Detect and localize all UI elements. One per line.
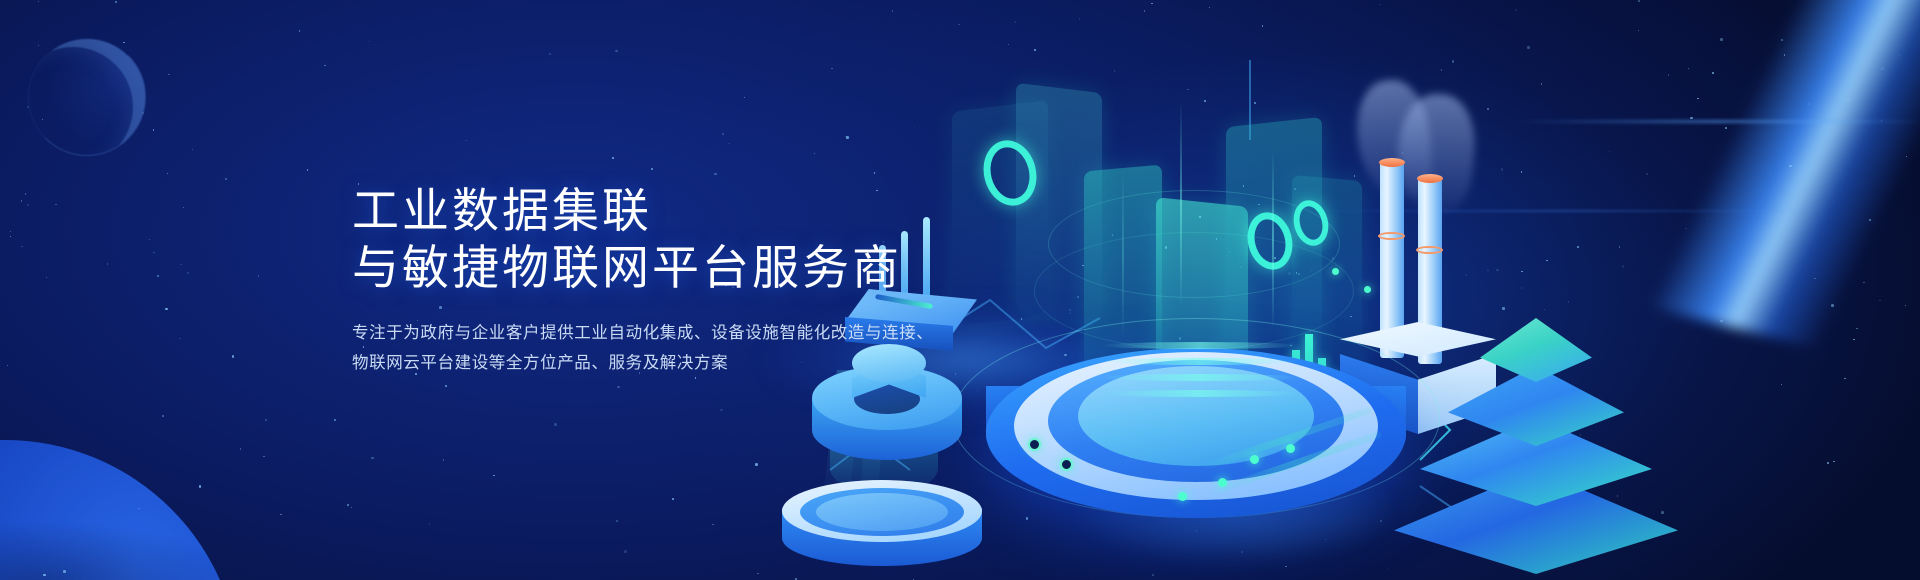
- scanline: [1122, 170, 1124, 340]
- planet-icon: [0, 440, 240, 580]
- data-platform-disc: [986, 330, 1406, 530]
- hero-subtitle-line1: 专注于为政府与企业客户提供工业自动化集成、设备设施智能化改造与连接、: [352, 318, 992, 348]
- hero-subtitle-line2: 物联网云平台建设等全方位产品、服务及解决方案: [352, 348, 992, 378]
- data-node: [1028, 438, 1041, 451]
- data-pulse: [1250, 455, 1259, 464]
- chimney-band: [1416, 246, 1443, 254]
- hero-subtitle: 专注于为政府与企业客户提供工业自动化集成、设备设施智能化改造与连接、 物联网云平…: [352, 318, 992, 378]
- data-node: [1060, 458, 1073, 471]
- chimney-cap: [1379, 158, 1405, 167]
- chimney-cap: [1417, 174, 1443, 183]
- page-title-line2: 与敏捷物联网平台服务商: [352, 239, 1032, 296]
- pyramid-layer: [1480, 318, 1592, 382]
- hero-illustration: [950, 0, 1920, 580]
- chimney-band: [1378, 232, 1405, 240]
- scanline: [1180, 100, 1182, 310]
- small-disc-core: [816, 493, 948, 531]
- hero-banner: 工业数据集联 与敏捷物联网平台服务商 专注于为政府与企业客户提供工业自动化集成、…: [0, 0, 1920, 580]
- layered-pyramid-icon: [1406, 318, 1666, 580]
- hero-copy: 工业数据集联 与敏捷物联网平台服务商 专注于为政府与企业客户提供工业自动化集成、…: [352, 182, 1032, 378]
- data-pulse: [1364, 286, 1371, 293]
- crescent-moon-icon: [28, 38, 146, 156]
- data-pulse: [1286, 444, 1295, 453]
- data-pulse: [1178, 492, 1187, 501]
- disc-stripes: [1102, 338, 1298, 410]
- scanline: [1272, 150, 1274, 330]
- data-pulse: [1218, 478, 1227, 487]
- data-pulse: [1332, 268, 1339, 275]
- page-title-line1: 工业数据集联: [352, 182, 1032, 239]
- data-disc-icon: [782, 480, 982, 580]
